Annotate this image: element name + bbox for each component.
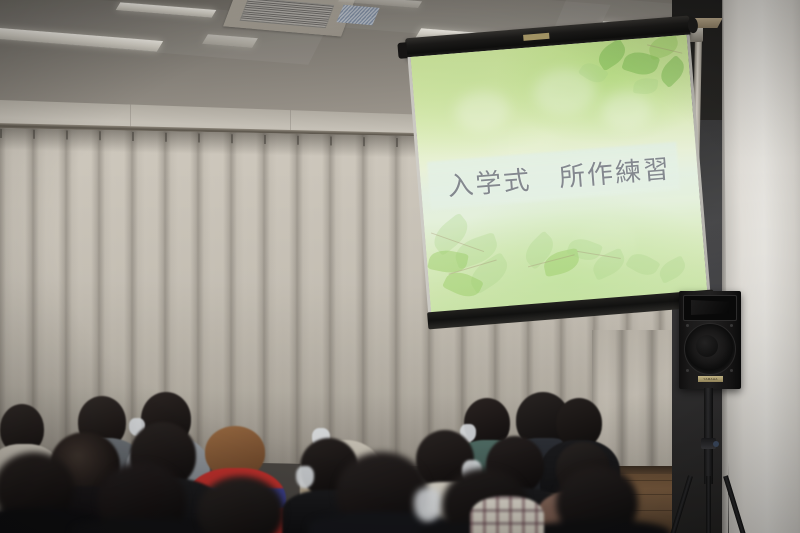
right-wall-pillar [723, 0, 800, 533]
lecture-hall-photo: 入学式 所作練習 YAMAHA [0, 0, 800, 533]
tripod-leg [706, 476, 711, 533]
roller-label [523, 33, 549, 41]
roller-end-cap [397, 42, 407, 59]
projected-slide: 入学式 所作練習 [411, 35, 708, 314]
speaker-stand-pole [704, 388, 713, 484]
ac-vent-icon [336, 5, 379, 26]
speaker-brand-badge: YAMAHA [698, 376, 723, 382]
speaker-dust-cap [696, 335, 718, 357]
stand-adjust-knob [713, 441, 719, 447]
ac-grille [240, 0, 335, 28]
speaker-horn-tweeter [683, 295, 737, 321]
projector-screen-icon: 入学式 所作練習 [409, 16, 709, 337]
speaker-icon: YAMAHA [679, 291, 741, 389]
horn-throat [691, 300, 729, 315]
